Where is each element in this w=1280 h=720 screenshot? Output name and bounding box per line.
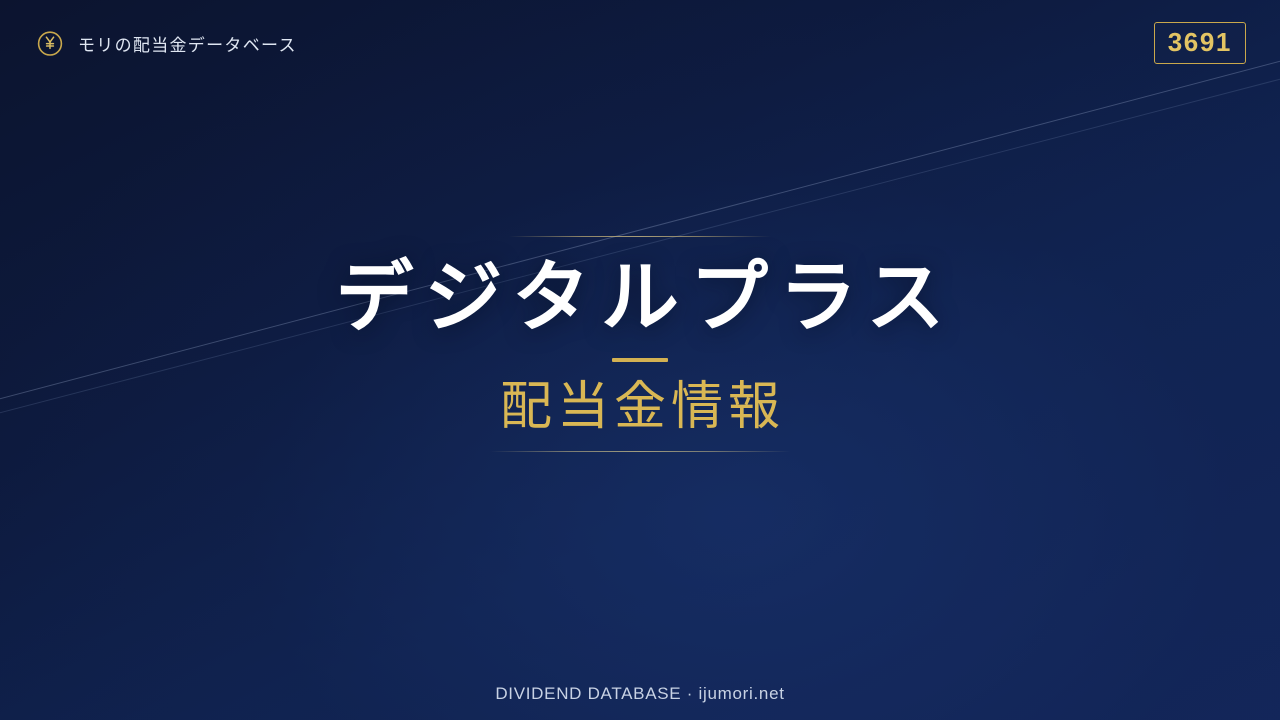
page-subtitle: 配当金情報 xyxy=(495,380,785,435)
company-title: デジタルプラス xyxy=(325,237,956,338)
presentation-slide: モリの配当金データベース 3691 デジタルプラス 配当金情報 DIVIDEND… xyxy=(0,0,1280,720)
brand: モリの配当金データベース xyxy=(36,29,297,57)
gold-dash-divider xyxy=(612,358,668,362)
slide-header: モリの配当金データベース 3691 xyxy=(0,0,1280,86)
stock-code-badge: 3691 xyxy=(1154,22,1246,64)
divider-bottom xyxy=(490,451,790,452)
brand-name: モリの配当金データベース xyxy=(78,31,297,56)
slide-footer: DIVIDEND DATABASE · ijumori.net xyxy=(0,684,1280,704)
yen-circle-icon xyxy=(36,29,64,57)
title-block: デジタルプラス 配当金情報 xyxy=(0,236,1280,452)
footer-text: DIVIDEND DATABASE · ijumori.net xyxy=(495,684,784,703)
